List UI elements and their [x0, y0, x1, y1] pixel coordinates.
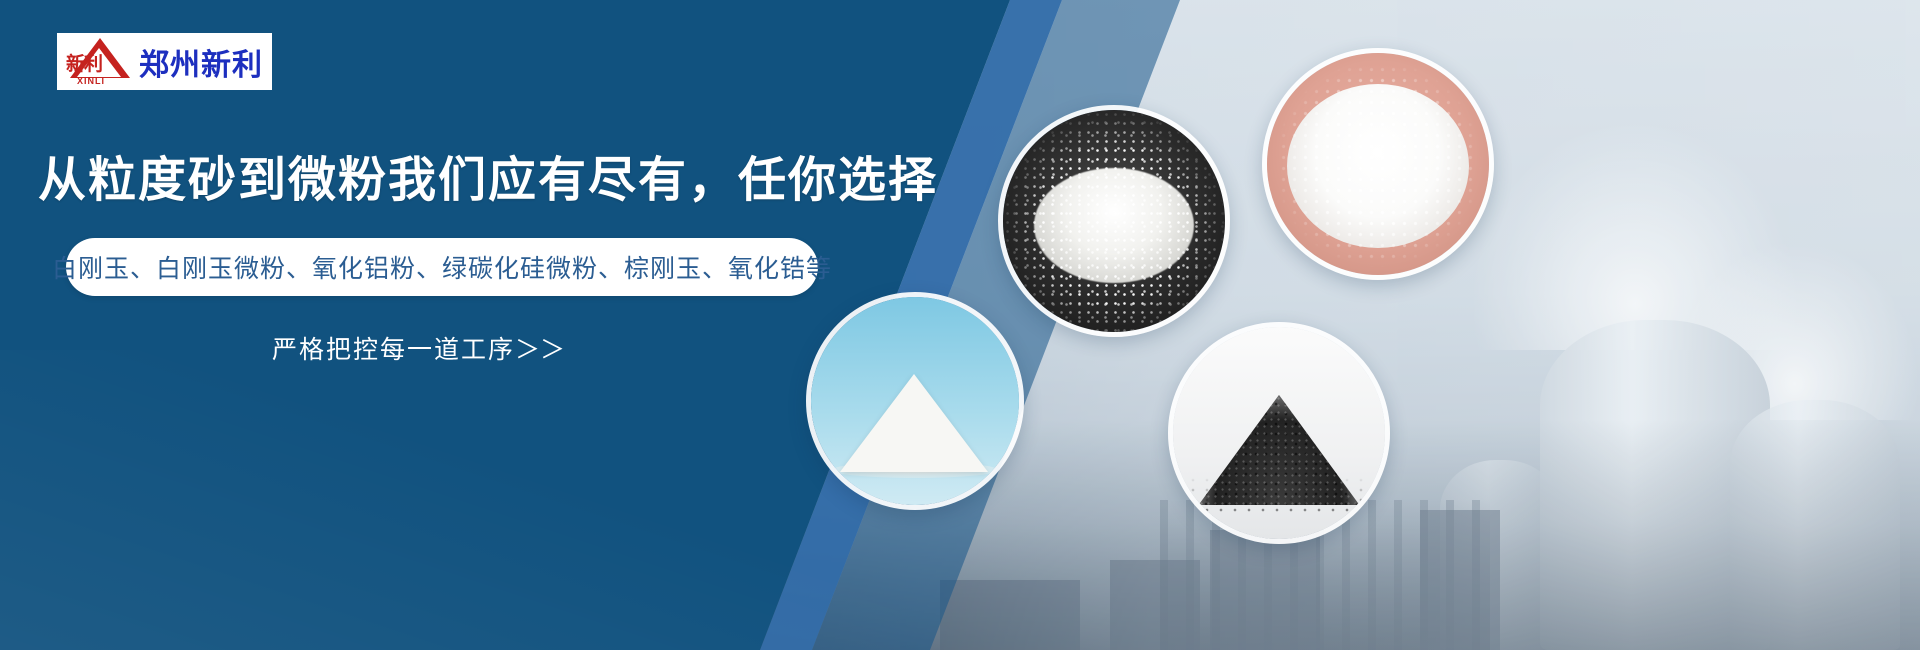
company-logo[interactable]: 新利 XINLI 郑州新利	[57, 33, 272, 90]
black-grit-scatter	[1186, 475, 1373, 513]
cta-label: 严格把控每一道工序	[272, 336, 515, 364]
cta-link[interactable]: 严格把控每一道工序＞＞	[272, 330, 565, 366]
powder-speckles	[1267, 53, 1489, 275]
product-image-white-grit	[998, 105, 1230, 337]
triangle-emblem-icon: 新利 XINLI	[67, 36, 133, 88]
product-image-black-grit	[1168, 322, 1390, 544]
cta-arrows-icon: ＞＞	[515, 336, 565, 364]
product-list-pill: 白刚玉、白刚玉微粉、氧化铝粉、绿碳化硅微粉、棕刚玉、氧化锆等	[66, 238, 818, 296]
product-list-text: 白刚玉、白刚玉微粉、氧化铝粉、绿碳化硅微粉、棕刚玉、氧化锆等	[52, 249, 832, 285]
emblem-cn-text: 新利	[66, 55, 102, 74]
product-image-white-powder-dish	[1262, 48, 1494, 280]
headline: 从粒度砂到微粉我们应有尽有，任你选择	[38, 140, 938, 210]
emblem-pinyin-text: XINLI	[77, 77, 105, 86]
promo-banner: 新利 XINLI 郑州新利 从粒度砂到微粉我们应有尽有，任你选择 白刚玉、白刚玉…	[0, 0, 1920, 650]
product-image-powder-cone	[806, 292, 1024, 510]
powder-cone	[840, 374, 988, 472]
company-name: 郑州新利	[139, 40, 263, 84]
grit-speckles	[1003, 110, 1225, 332]
